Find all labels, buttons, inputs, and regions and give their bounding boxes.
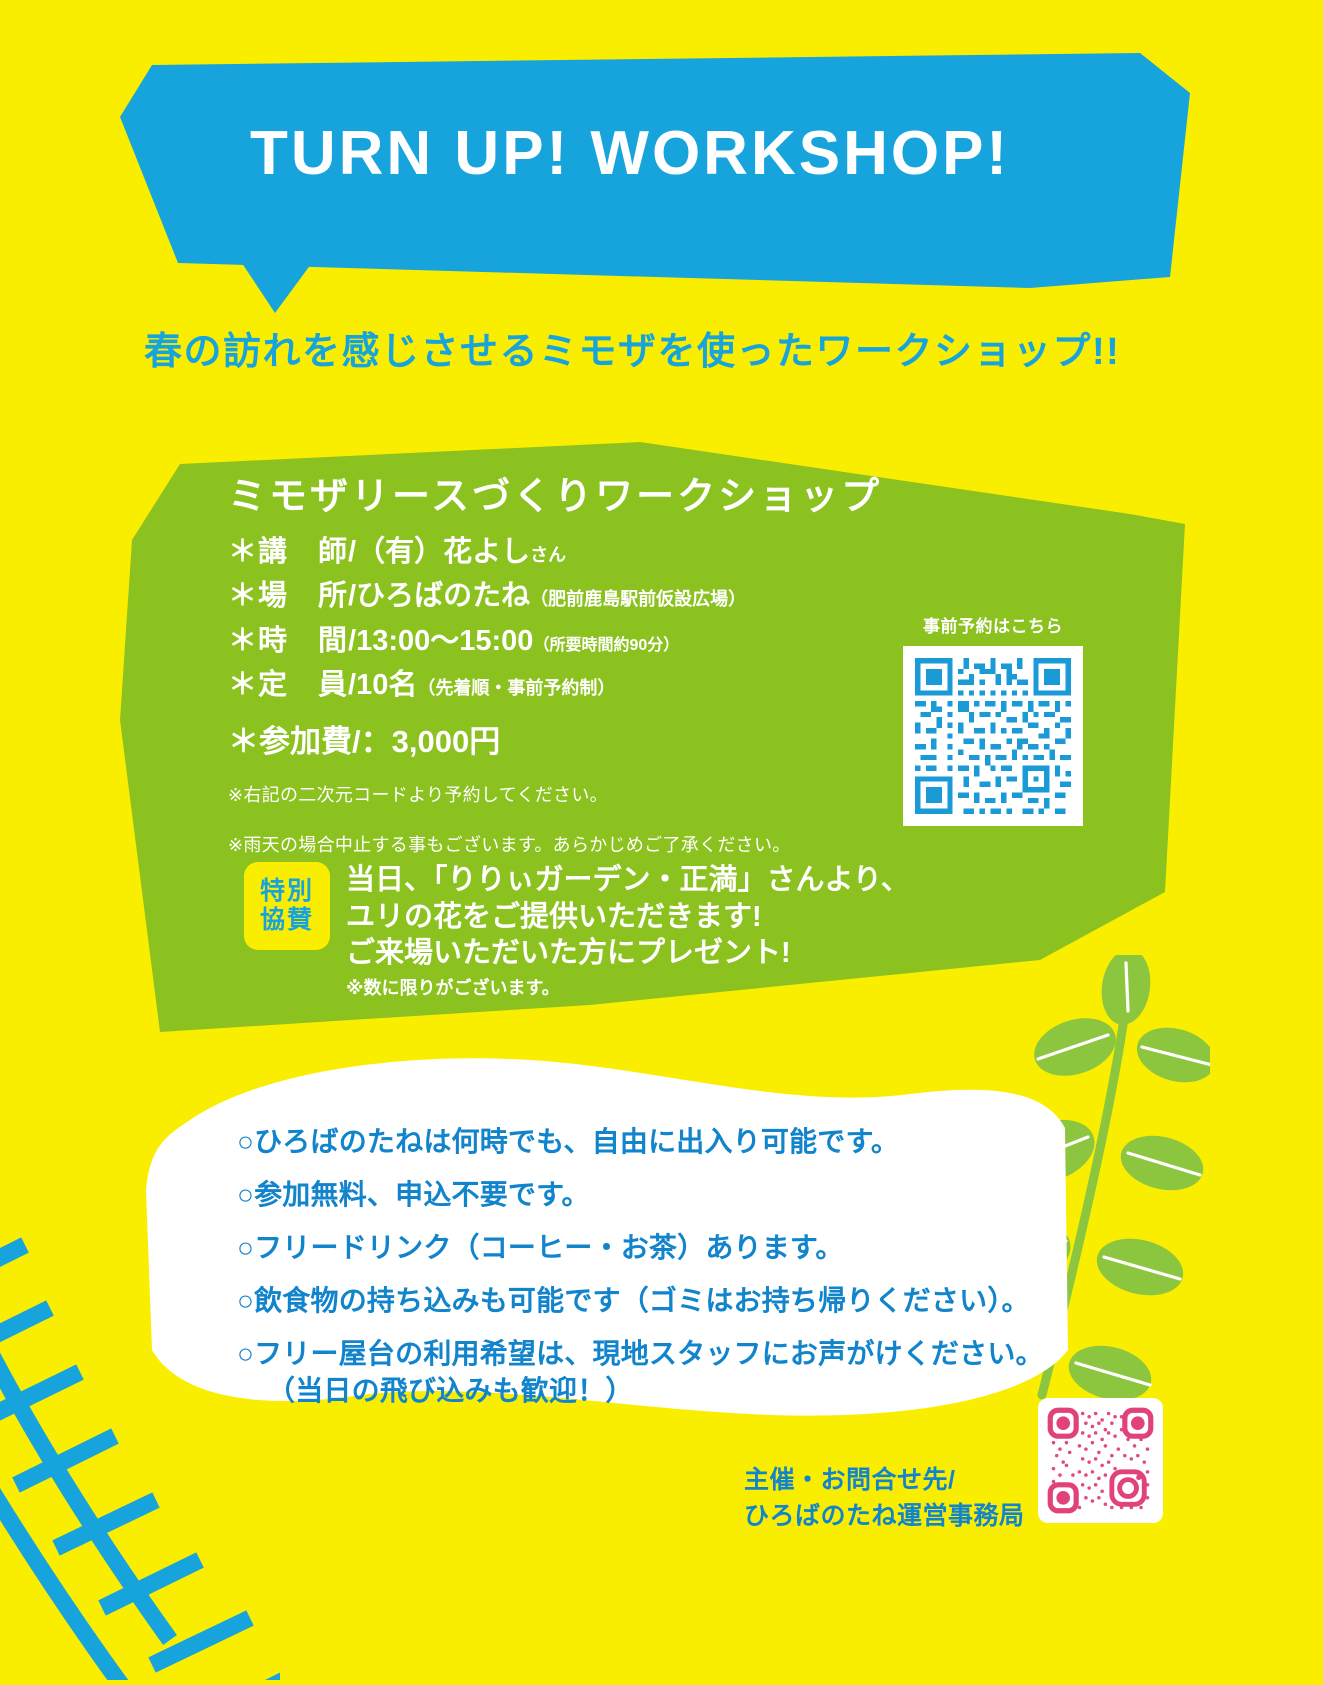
bullet-text: ○ひろばのたねは何時でも、自由に出入り可能です。 (237, 1126, 899, 1157)
sponsor-line-2: ユリの花をご提供いただきます! (346, 899, 910, 936)
note-reservation: ※右記の二次元コードより予約してください。 (228, 781, 948, 807)
poster-canvas: TURN UP! WORKSHOP! 春の訪れを感じさせるミモザを使ったワークシ… (0, 0, 1323, 1654)
row-marker: ＊ (228, 625, 258, 657)
badge-line-2: 協賛 (260, 906, 314, 935)
row-value: ひろばのたね (356, 580, 530, 612)
sponsor-line-3: ご来場いただいた方にプレゼント! (346, 935, 910, 972)
sponsor-line-1: 当日、「りりぃガーデン・正満」さんより、 (346, 862, 910, 899)
special-sponsor-text: 当日、「りりぃガーデン・正満」さんより、 ユリの花をご提供いただきます! ご来場… (346, 862, 910, 1000)
special-sponsor-badge: 特別 協賛 (244, 862, 330, 950)
qr-label: 事前予約はこちら (898, 612, 1088, 637)
detail-row-capacity: ＊定 員/10名（先着順・事前予約制） (228, 669, 948, 702)
row-label: 時 間 (258, 625, 348, 657)
note-rain: ※雨天の場合中止する事もございます。あらかじめご了承ください。 (228, 831, 948, 857)
row-suffix: さん (530, 545, 566, 565)
reservation-qr-code[interactable] (903, 646, 1083, 826)
row-note: （肥前鹿島駅前仮設広場） (530, 589, 746, 609)
row-separator: / (348, 669, 356, 701)
special-sponsor-block: 特別 協賛 当日、「りりぃガーデン・正満」さんより、 ユリの花をご提供いただきま… (244, 862, 910, 1000)
badge-line-1: 特別 (260, 877, 314, 906)
row-label: 講 師 (258, 536, 348, 568)
bullet-text: ○飲食物の持ち込みも可能です（ゴミはお持ち帰りください）。 (237, 1285, 1030, 1316)
footer-contact: 主催・お問合せ先/ ひろばのたね運営事務局 (744, 1462, 1025, 1535)
row-label: 定 員 (258, 669, 348, 701)
list-item: ○フリードリンク（コーヒー・お茶）あります。 (237, 1231, 1027, 1264)
bullet-text: ○フリー屋台の利用希望は、現地スタッフにお声がけください。 (237, 1338, 1044, 1369)
list-item: ○フリー屋台の利用希望は、現地スタッフにお声がけください。 （当日の飛び込みも歓… (237, 1337, 1027, 1407)
detail-row-time: ＊時 間/13:00〜15:00（所要時間約90分） (228, 625, 948, 658)
row-value: （有）花よし (356, 536, 530, 568)
participation-fee: ＊参加費/：3,000円 (228, 716, 948, 761)
row-note: （所要時間約90分） (533, 637, 679, 654)
detail-row-instructor: ＊講 師/（有）花よしさん (228, 536, 948, 569)
page-title: TURN UP! WORKSHOP! (250, 118, 1010, 189)
row-separator: / (348, 536, 356, 568)
workshop-title: ミモザリースづくりワークショップ (228, 465, 948, 520)
row-marker: ＊ (228, 669, 258, 701)
row-note: （先着順・事前予約制） (417, 678, 615, 698)
list-item: ○ひろばのたねは何時でも、自由に出入り可能です。 (237, 1125, 1027, 1158)
row-marker: ＊ (228, 536, 258, 568)
row-value: 10名 (356, 669, 417, 701)
workshop-details: ミモザリースづくりワークショップ ＊講 師/（有）花よしさん ＊場 所/ひろばの… (228, 465, 948, 881)
list-item: ○参加無料、申込不要です。 (237, 1178, 1027, 1211)
row-marker: ＊ (228, 580, 258, 612)
info-bullet-list: ○ひろばのたねは何時でも、自由に出入り可能です。 ○参加無料、申込不要です。 ○… (237, 1125, 1027, 1427)
bullet-continuation: （当日の飛び込みも歓迎！） (237, 1374, 1027, 1407)
bullet-text: ○フリードリンク（コーヒー・お茶）あります。 (237, 1232, 844, 1263)
footer-line-1: 主催・お問合せ先/ (744, 1462, 1025, 1498)
bullet-text: ○参加無料、申込不要です。 (237, 1179, 590, 1210)
detail-row-place: ＊場 所/ひろばのたね（肥前鹿島駅前仮設広場） (228, 580, 948, 613)
row-separator: / (348, 580, 356, 612)
list-item: ○飲食物の持ち込みも可能です（ゴミはお持ち帰りください）。 (237, 1284, 1027, 1317)
sponsor-limited-note: ※数に限りがございます。 (346, 974, 910, 1000)
row-label: 場 所 (258, 580, 348, 612)
reservation-qr-block[interactable]: 事前予約はこちら (898, 612, 1088, 826)
footer-line-2: ひろばのたね運営事務局 (744, 1498, 1025, 1534)
subtitle: 春の訪れを感じさせるミモザを使ったワークショップ!! (144, 320, 1120, 375)
row-value: 13:00〜15:00 (356, 625, 533, 657)
row-separator: / (348, 625, 356, 657)
instagram-qr-code[interactable] (1038, 1398, 1163, 1523)
